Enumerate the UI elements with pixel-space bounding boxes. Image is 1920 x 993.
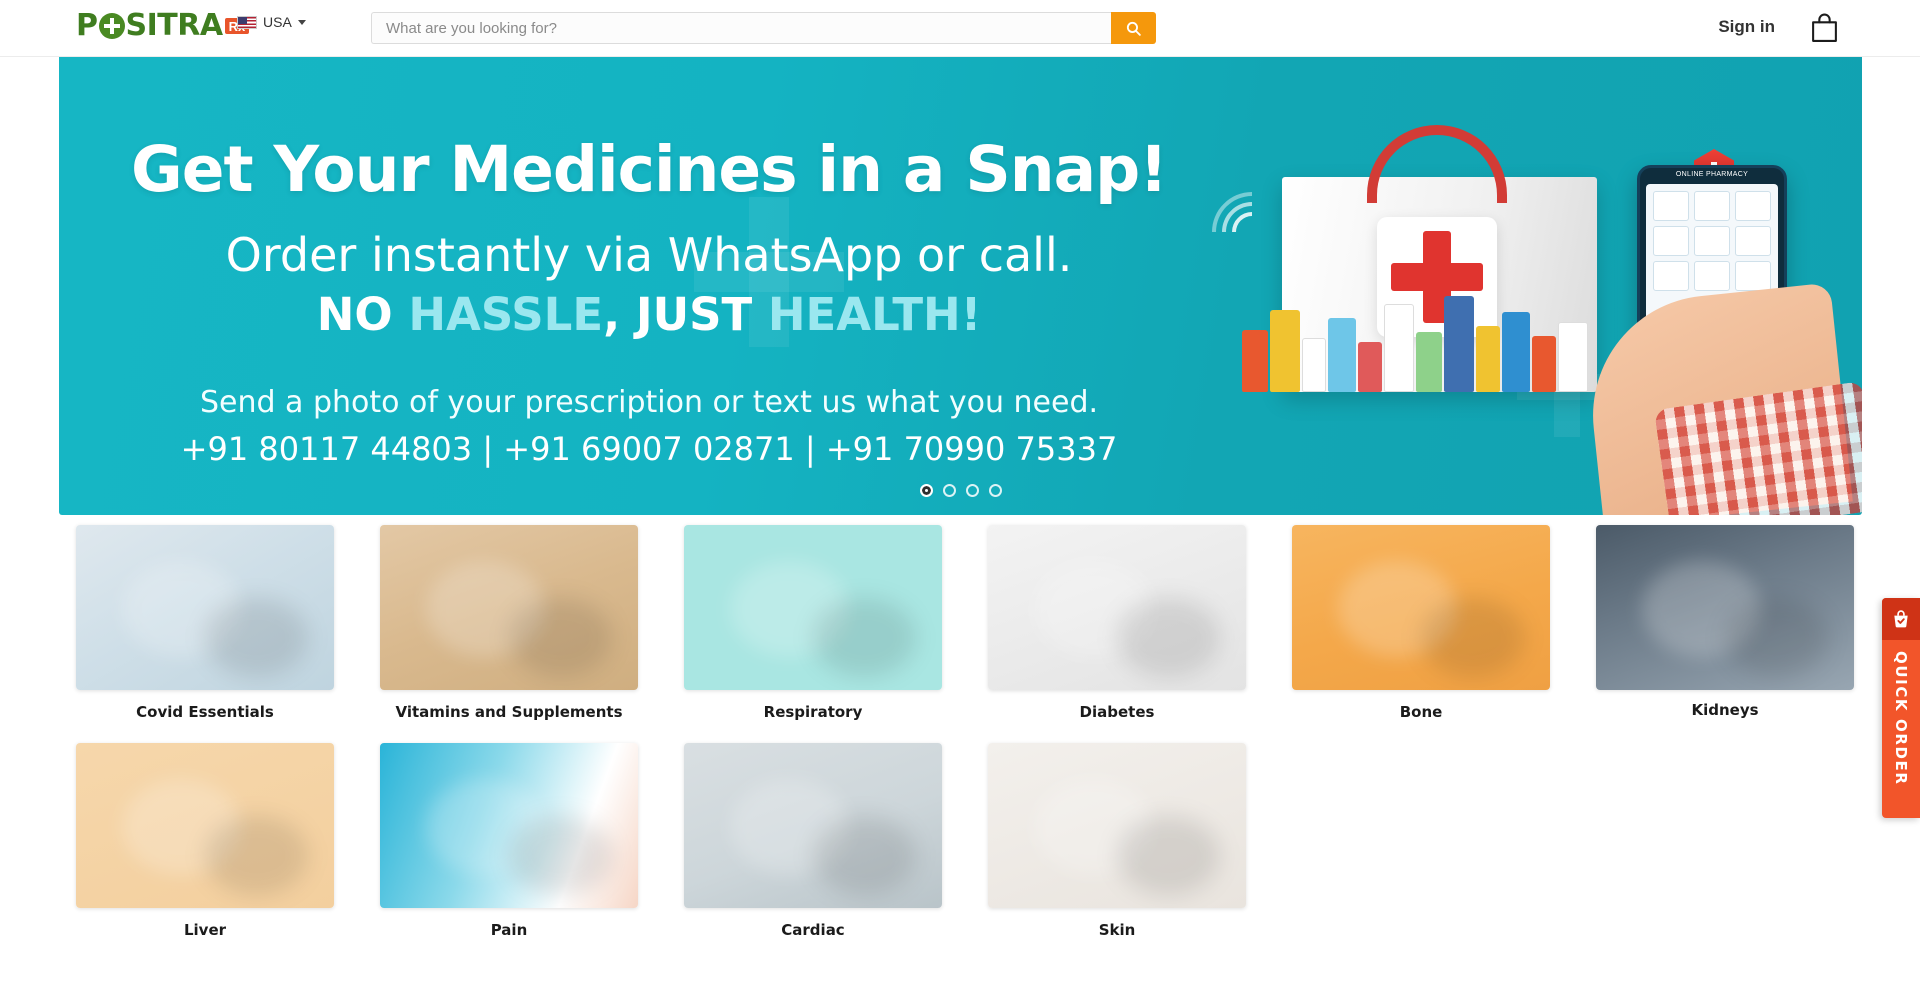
carousel-dot-3[interactable] [966,484,979,497]
category-row-2: LiverPainCardiacSkin [76,743,1844,939]
banner-instruction: Send a photo of your prescription or tex… [59,385,1239,420]
image-shape [205,816,308,895]
search-icon [1125,20,1142,37]
tagline-part1: NO [317,288,409,341]
category-card[interactable]: Liver [76,743,334,939]
hero-banner[interactable]: MEDICINE ONLINE [59,57,1862,515]
cart-button[interactable] [1811,13,1838,48]
medicine-bottles-illustration [1282,274,1597,392]
basket-check-icon [1891,609,1911,629]
category-card[interactable]: Covid Essentials [76,525,334,721]
quick-order-icon-area [1882,598,1920,640]
image-shape [1421,598,1524,677]
banner-phone-numbers: +91 80117 44803 | +91 69007 02871 | +91 … [59,430,1239,468]
chevron-down-icon [298,20,306,25]
image-shape [1117,816,1220,895]
category-card[interactable]: Respiratory [684,525,942,721]
category-label: Vitamins and Supplements [380,703,638,721]
image-shape [1117,598,1220,677]
category-card[interactable]: Diabetes [988,525,1246,721]
carousel-dot-2[interactable] [943,484,956,497]
category-image [380,525,638,690]
usa-flag-icon [237,16,257,29]
category-image [684,525,942,690]
category-card[interactable]: Pain [380,743,638,939]
phone-screen-title: ONLINE PHARMACY [1640,168,1784,178]
category-image [380,743,638,908]
site-logo[interactable]: PSITRARx [76,10,249,42]
image-shape [813,598,916,677]
category-image [988,743,1246,908]
category-label: Skin [988,921,1246,939]
site-header: PSITRARx USA Sign in [0,0,1920,57]
category-card[interactable]: Vitamins and Supplements [380,525,638,721]
category-label: Liver [76,921,334,939]
phone-product-grid [1646,184,1778,298]
sign-in-button[interactable]: Sign in [1718,17,1775,37]
search-button[interactable] [1111,12,1156,44]
category-label: Pain [380,921,638,939]
category-image [76,743,334,908]
category-image [1596,525,1854,690]
category-label: Respiratory [684,703,942,721]
category-card[interactable]: Kidneys [1596,525,1854,721]
image-shape [205,598,308,677]
category-image [1292,525,1550,690]
country-selector[interactable]: USA [237,14,306,30]
tagline-accent1: HASSLE [408,288,603,341]
logo-text-prefix: P [76,11,98,41]
image-shape [1725,598,1828,677]
logo-text-suffix: SITRA [126,11,223,41]
page: PSITRARx USA Sign in [0,0,1920,939]
banner-tagline: NO HASSLE, JUST HEALTH! [59,288,1239,341]
category-label: Diabetes [988,703,1246,721]
category-row-1: Covid EssentialsVitamins and Supplements… [76,525,1844,721]
carousel-dot-4[interactable] [989,484,1002,497]
category-image [684,743,942,908]
category-label: Bone [1292,703,1550,721]
banner-headline: Get Your Medicines in a Snap! [59,133,1239,206]
category-image [988,525,1246,690]
shopping-bag-illustration [1282,177,1597,392]
quick-order-tab[interactable]: QUICK ORDER [1882,598,1920,818]
quick-order-label: QUICK ORDER [1892,651,1910,786]
shopping-bag-icon [1811,13,1838,43]
category-card[interactable]: Cardiac [684,743,942,939]
category-image [76,525,334,690]
category-card[interactable]: Bone [1292,525,1550,721]
carousel-dots [59,484,1862,497]
image-shape [813,816,916,895]
category-label: Kidneys [1596,701,1854,719]
bag-handle-icon [1367,125,1507,203]
search-input[interactable] [371,12,1111,44]
category-label: Covid Essentials [76,703,334,721]
category-card[interactable]: Skin [988,743,1246,939]
category-label: Cardiac [684,921,942,939]
image-shape [509,816,612,895]
category-section: Covid EssentialsVitamins and Supplements… [0,525,1920,939]
banner-subline: Order instantly via WhatsApp or call. [59,228,1239,282]
medical-cross-icon [99,13,125,39]
banner-illustration: MEDICINE ONLINE [1162,57,1862,515]
tagline-accent2: HEALTH! [768,288,981,341]
banner-copy: Get Your Medicines in a Snap! Order inst… [59,57,1239,468]
tagline-part2: , JUST [603,288,768,341]
search-bar [371,12,1156,44]
country-label: USA [263,14,292,30]
carousel-dot-1[interactable] [920,484,933,497]
image-shape [509,598,612,677]
